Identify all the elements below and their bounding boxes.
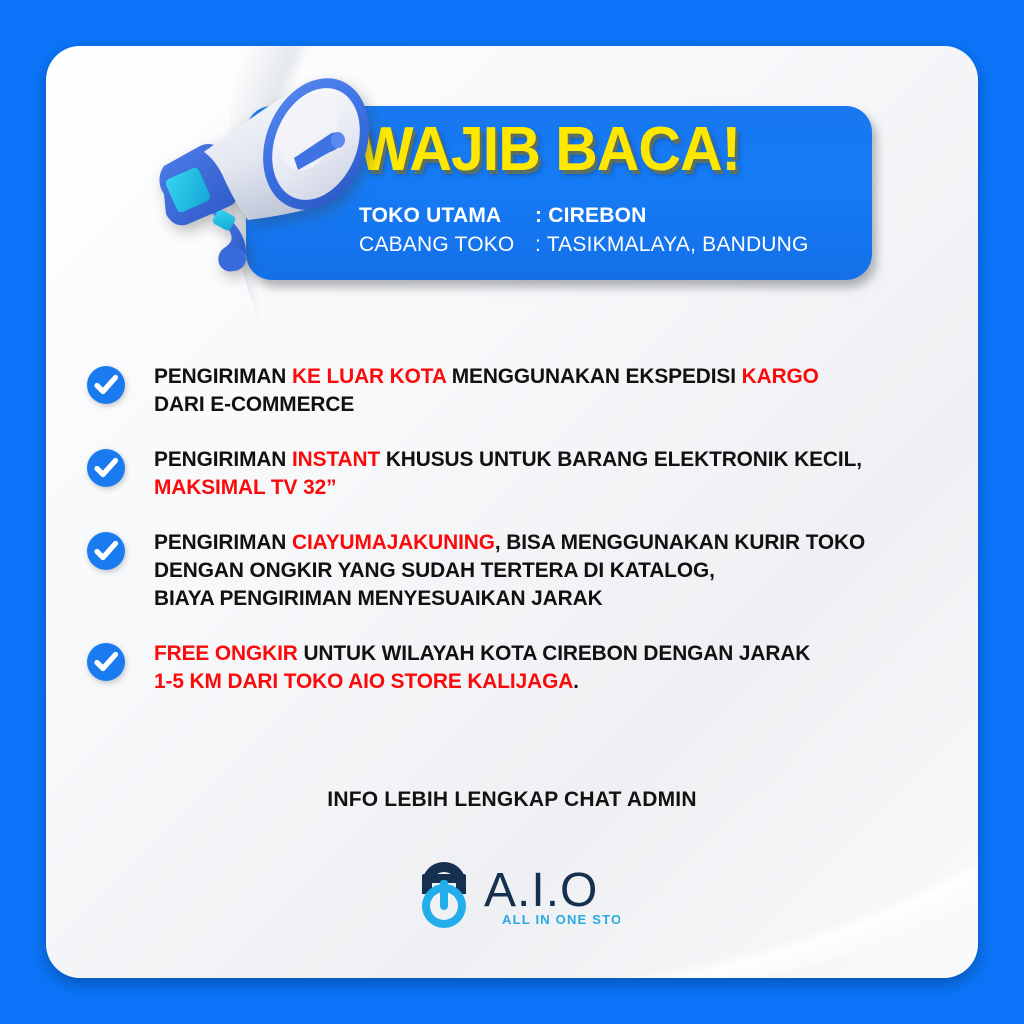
logo-wordmark: A.I.O <box>484 864 598 917</box>
list-item: PENGIRIMAN CIAYUMAJAKUNING, BISA MENGGUN… <box>86 528 916 613</box>
text-segment: UNTUK WILAYAH KOTA CIREBON DENGAN JARAK <box>298 641 811 665</box>
text-segment: , BISA MENGGUNAKAN KURIR TOKO <box>495 530 865 554</box>
text-segment: KE LUAR KOTA <box>292 364 446 388</box>
logo-tagline: ALL IN ONE STORE <box>502 912 620 927</box>
banner-title: WAJIB BACA! <box>358 114 740 185</box>
list-item-line: 1-5 KM DARI TOKO AIO STORE KALIJAGA. <box>154 667 810 695</box>
text-segment: DARI E-COMMERCE <box>154 392 354 416</box>
logo-power-bar-top <box>440 880 448 892</box>
list-item-text: PENGIRIMAN INSTANT KHUSUS UNTUK BARANG E… <box>154 445 862 502</box>
list-item: FREE ONGKIR UNTUK WILAYAH KOTA CIREBON D… <box>86 639 916 696</box>
banner-row-value: : CIREBON <box>535 204 646 227</box>
list-item: PENGIRIMAN KE LUAR KOTA MENGGUNAKAN EKSP… <box>86 362 916 419</box>
list-item-line: PENGIRIMAN INSTANT KHUSUS UNTUK BARANG E… <box>154 445 862 473</box>
text-segment: BIAYA PENGIRIMAN MENYESUAIKAN JARAK <box>154 586 603 610</box>
megaphone-icon <box>152 74 392 304</box>
list-item-line: DARI E-COMMERCE <box>154 390 819 418</box>
promo-poster: WAJIB BACA! TOKO UTAMA: CIREBON CABANG T… <box>0 0 1024 1024</box>
text-segment: 1-5 KM DARI TOKO AIO STORE KALIJAGA <box>154 669 573 693</box>
footer-note: INFO LEBIH LENGKAP CHAT ADMIN <box>0 788 1024 812</box>
text-segment: KARGO <box>742 364 819 388</box>
check-circle-icon <box>86 642 126 682</box>
list-item-line: MAKSIMAL TV 32” <box>154 473 862 501</box>
text-segment: MAKSIMAL TV 32” <box>154 475 336 499</box>
banner-row-cabang-toko: CABANG TOKO: TASIKMALAYA, BANDUNG <box>359 233 809 257</box>
banner-row-value: : TASIKMALAYA, BANDUNG <box>535 233 809 256</box>
check-circle-icon <box>86 365 126 405</box>
list-item-line: BIAYA PENGIRIMAN MENYESUAIKAN JARAK <box>154 584 865 612</box>
text-segment: INSTANT <box>292 447 380 471</box>
banner-row-toko-utama: TOKO UTAMA: CIREBON <box>359 204 646 228</box>
benefits-list: PENGIRIMAN KE LUAR KOTA MENGGUNAKAN EKSP… <box>86 362 916 721</box>
check-circle-icon <box>86 531 126 571</box>
text-segment: DENGAN ONGKIR YANG SUDAH TERTERA DI KATA… <box>154 558 715 582</box>
aio-store-logo: A.I.O ALL IN ONE STORE <box>404 836 620 932</box>
text-segment: MENGGUNAKAN EKSPEDISI <box>446 364 742 388</box>
megaphone-handle-grip <box>220 247 246 271</box>
list-item-line: PENGIRIMAN CIAYUMAJAKUNING, BISA MENGGUN… <box>154 528 865 556</box>
list-item-text: FREE ONGKIR UNTUK WILAYAH KOTA CIREBON D… <box>154 639 810 696</box>
megaphone-stem-cap <box>331 132 345 148</box>
text-segment: PENGIRIMAN <box>154 364 292 388</box>
list-item-text: PENGIRIMAN CIAYUMAJAKUNING, BISA MENGGUN… <box>154 528 865 613</box>
text-segment: PENGIRIMAN <box>154 530 292 554</box>
list-item-line: DENGAN ONGKIR YANG SUDAH TERTERA DI KATA… <box>154 556 865 584</box>
list-item-text: PENGIRIMAN KE LUAR KOTA MENGGUNAKAN EKSP… <box>154 362 819 419</box>
text-segment: CIAYUMAJAKUNING <box>292 530 495 554</box>
list-item-line: PENGIRIMAN KE LUAR KOTA MENGGUNAKAN EKSP… <box>154 362 819 390</box>
check-circle-icon <box>86 448 126 488</box>
text-segment: KHUSUS UNTUK BARANG ELEKTRONIK KECIL, <box>380 447 862 471</box>
text-segment: FREE ONGKIR <box>154 641 298 665</box>
list-item: PENGIRIMAN INSTANT KHUSUS UNTUK BARANG E… <box>86 445 916 502</box>
text-segment: PENGIRIMAN <box>154 447 292 471</box>
text-segment: . <box>573 669 579 693</box>
list-item-line: FREE ONGKIR UNTUK WILAYAH KOTA CIREBON D… <box>154 639 810 667</box>
